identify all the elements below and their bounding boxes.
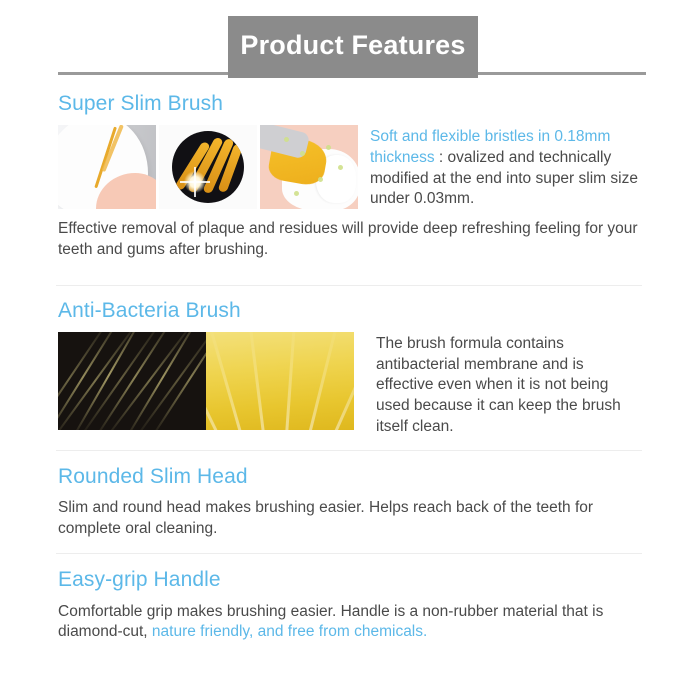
thumbnail-group-super-slim-brush: [58, 125, 358, 209]
product-features-page: Product Features Super Slim Brush: [0, 0, 684, 684]
section-title-rounded-slim-head: Rounded Slim Head: [58, 465, 639, 489]
body-paragraph-easy-grip-handle: Comfortable grip makes brushing easier. …: [58, 602, 639, 644]
features-content: Super Slim Brush: [0, 92, 684, 643]
section-rounded-slim-head: Rounded Slim Head Slim and round head ma…: [0, 451, 684, 554]
section-super-slim-brush: Super Slim Brush: [0, 92, 684, 271]
side-text-super-slim-brush: Soft and flexible bristles in 0.18mm thi…: [370, 125, 639, 210]
fiber-ray: [248, 332, 267, 430]
sparkle-icon: [184, 171, 206, 193]
fiber-strand: [124, 332, 203, 430]
side-text-anti-bacteria-brush: The brush formula contains antibacterial…: [366, 332, 639, 438]
fiber-ray: [208, 332, 247, 430]
section-title-super-slim-brush: Super Slim Brush: [58, 92, 639, 116]
dark-bristle-fibers-image: [58, 332, 206, 430]
tooth-bristle-closeup-image: [58, 125, 156, 209]
header-banner: Product Features: [228, 16, 478, 78]
fiber-strand: [58, 332, 140, 430]
media-row-super-slim-brush: Soft and flexible bristles in 0.18mm thi…: [58, 125, 639, 210]
yellow-bristle-fibers-image: [206, 332, 354, 430]
body-paragraph-super-slim-brush: Effective removal of plaque and residues…: [58, 219, 639, 261]
magnification-disc: [172, 131, 244, 203]
body-paragraph-rounded-slim-head: Slim and round head makes brushing easie…: [58, 498, 639, 540]
side-paragraph-super-slim-brush: Soft and flexible bristles in 0.18mm thi…: [370, 127, 639, 210]
section-title-easy-grip-handle: Easy-grip Handle: [58, 568, 639, 592]
media-row-anti-bacteria-brush: The brush formula contains antibacterial…: [58, 332, 639, 438]
fiber-ray: [284, 332, 296, 430]
section-anti-bacteria-brush: Anti-Bacteria Brush: [0, 286, 684, 450]
side-paragraph-anti-bacteria-brush: The brush formula contains antibacterial…: [376, 334, 639, 438]
header-rule-right: [476, 72, 646, 75]
brushing-teeth-illustration-image: [260, 125, 358, 209]
header-rule-left: [58, 72, 230, 75]
page-header: Product Features: [0, 0, 684, 92]
fiber-ray: [304, 332, 338, 430]
body-text-highlight: nature friendly, and free from chemicals…: [152, 623, 427, 640]
section-easy-grip-handle: Easy-grip Handle Comfortable grip makes …: [0, 554, 684, 643]
page-title: Product Features: [240, 32, 465, 63]
bristle-tips-magnified-image: [159, 125, 257, 209]
section-title-anti-bacteria-brush: Anti-Bacteria Brush: [58, 299, 639, 323]
thumbnail-group-anti-bacteria-brush: [58, 332, 354, 430]
